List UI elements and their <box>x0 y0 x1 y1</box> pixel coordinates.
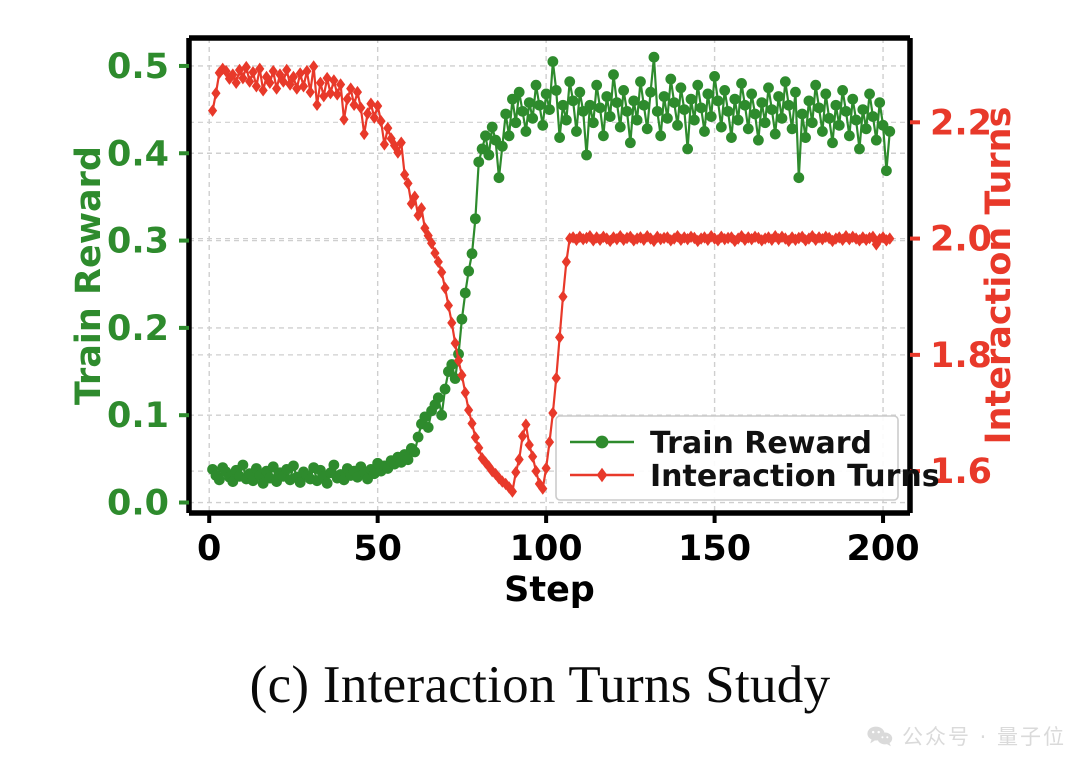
data-point <box>544 104 555 115</box>
data-point <box>760 117 771 128</box>
data-point <box>750 109 761 120</box>
data-point <box>645 87 656 98</box>
data-point <box>642 123 653 134</box>
data-point <box>699 126 710 137</box>
data-point <box>857 104 868 115</box>
data-point <box>635 76 646 87</box>
data-point <box>743 123 754 134</box>
data-point <box>672 120 683 131</box>
data-point <box>733 115 744 126</box>
x-tick-label: 100 <box>510 529 583 569</box>
data-point <box>473 157 484 168</box>
data-point <box>433 392 444 403</box>
legend-marker <box>596 436 609 449</box>
watermark: 公众号 · 量子位 <box>867 721 1066 751</box>
data-point <box>824 113 835 124</box>
data-point <box>585 100 596 111</box>
data-point <box>692 80 703 91</box>
data-point <box>854 143 865 154</box>
data-point <box>322 478 333 489</box>
data-point <box>834 120 845 131</box>
data-point <box>527 113 538 124</box>
data-point <box>807 117 818 128</box>
data-point <box>780 76 791 87</box>
data-point <box>709 71 720 82</box>
data-point <box>460 288 471 299</box>
data-point <box>440 384 451 395</box>
data-point <box>615 122 626 133</box>
data-point <box>534 100 545 111</box>
data-point <box>864 88 875 99</box>
data-point <box>618 85 629 96</box>
data-point <box>713 95 724 106</box>
data-point <box>238 460 249 471</box>
data-point <box>595 102 606 113</box>
y-tick-label-left: 0.0 <box>107 484 169 524</box>
data-point <box>740 100 751 111</box>
watermark-text: 公众号 · 量子位 <box>902 721 1066 751</box>
data-point <box>844 130 855 141</box>
data-point <box>483 150 494 161</box>
figure-caption: (c) Interaction Turns Study <box>0 655 1080 715</box>
data-point <box>723 106 734 117</box>
data-point <box>571 126 582 137</box>
data-point <box>827 137 838 148</box>
data-point <box>830 100 841 111</box>
data-point <box>851 115 862 126</box>
data-point <box>625 137 636 148</box>
y-tick-label-left: 0.4 <box>107 134 169 174</box>
data-point <box>783 100 794 111</box>
data-point <box>638 100 649 111</box>
data-point <box>524 97 535 108</box>
data-point <box>510 117 521 128</box>
data-point <box>436 410 447 421</box>
data-point <box>814 102 825 113</box>
data-point <box>800 132 811 143</box>
data-point <box>716 122 727 133</box>
data-point <box>787 123 798 134</box>
data-point <box>841 106 852 117</box>
data-point <box>682 143 693 154</box>
data-point <box>598 130 609 141</box>
data-point <box>409 446 420 457</box>
data-point <box>766 104 777 115</box>
data-point <box>679 104 690 115</box>
data-point <box>632 115 643 126</box>
data-point <box>622 106 633 117</box>
y-axis-label-right: Interaction Turns <box>979 107 1019 445</box>
data-point <box>689 115 700 126</box>
data-point <box>702 88 713 99</box>
data-point <box>777 113 788 124</box>
data-point <box>541 88 552 99</box>
data-point <box>547 56 558 67</box>
x-tick-label: 50 <box>353 529 402 569</box>
data-point <box>719 85 730 96</box>
x-tick-label: 150 <box>678 529 751 569</box>
x-tick-label: 0 <box>197 529 221 569</box>
data-point <box>706 111 717 122</box>
data-point <box>568 95 579 106</box>
data-point <box>457 314 468 325</box>
y-tick-label-left: 0.3 <box>107 222 169 262</box>
data-point <box>521 126 532 137</box>
data-point <box>494 172 505 183</box>
data-point <box>487 122 498 133</box>
data-point <box>423 422 434 433</box>
data-point <box>763 82 774 93</box>
data-point <box>696 102 707 113</box>
data-point <box>753 135 764 146</box>
data-point <box>467 248 478 259</box>
data-point <box>537 120 548 131</box>
x-axis-label: Step <box>504 570 595 610</box>
data-point <box>736 78 747 89</box>
wechat-icon <box>867 725 893 747</box>
data-point <box>497 141 508 152</box>
data-point <box>662 113 673 124</box>
data-point <box>686 94 697 105</box>
data-point <box>328 460 339 471</box>
legend-label: Interaction Turns <box>650 459 940 494</box>
data-point <box>793 172 804 183</box>
chart-legend: Train RewardInteraction Turns <box>556 416 940 500</box>
data-point <box>729 94 740 105</box>
data-point <box>874 97 885 108</box>
figure-container: 0501001502000.00.10.20.30.40.51.61.82.02… <box>0 0 1080 773</box>
data-point <box>847 94 858 105</box>
data-point <box>470 213 481 224</box>
data-point <box>797 109 808 120</box>
data-point <box>665 74 676 85</box>
data-point <box>817 126 828 137</box>
data-point <box>675 82 686 93</box>
x-tick-label: 200 <box>847 529 920 569</box>
data-point <box>770 129 781 140</box>
data-point <box>659 91 670 102</box>
data-point <box>554 132 565 143</box>
data-point <box>649 52 660 63</box>
data-point <box>463 266 474 277</box>
data-point <box>628 95 639 106</box>
data-point <box>608 69 619 80</box>
data-point <box>884 126 895 137</box>
data-point <box>652 106 663 117</box>
data-point <box>837 85 848 96</box>
data-point <box>726 132 737 143</box>
data-point <box>288 460 299 471</box>
y-axis-label-left: Train Reward <box>69 146 109 405</box>
data-point <box>756 97 767 108</box>
data-point <box>605 111 616 122</box>
data-point <box>868 111 879 122</box>
data-point <box>611 97 622 108</box>
data-point <box>601 91 612 102</box>
data-point <box>790 87 801 98</box>
data-point <box>773 91 784 102</box>
data-point <box>746 88 757 99</box>
data-point <box>655 130 666 141</box>
data-point <box>558 100 569 111</box>
data-point <box>564 76 575 87</box>
data-point <box>581 150 592 161</box>
data-point <box>574 87 585 98</box>
data-point <box>871 135 882 146</box>
data-point <box>500 109 511 120</box>
data-point <box>804 95 815 106</box>
data-point <box>810 80 821 91</box>
data-point <box>551 85 562 96</box>
y-tick-label-left: 0.2 <box>107 309 169 349</box>
data-point <box>861 123 872 134</box>
data-point <box>480 130 491 141</box>
y-tick-label-left: 0.5 <box>107 47 169 87</box>
y-tick-label-left: 0.1 <box>107 396 169 436</box>
data-point <box>514 87 525 98</box>
data-point <box>504 130 515 141</box>
legend-label: Train Reward <box>650 426 872 461</box>
data-point <box>561 115 572 126</box>
data-point <box>820 88 831 99</box>
data-point <box>588 117 599 128</box>
data-point <box>669 97 680 108</box>
data-point <box>517 106 528 117</box>
data-point <box>413 432 424 443</box>
data-point <box>531 80 542 91</box>
data-point <box>591 80 602 91</box>
data-point <box>881 165 892 176</box>
